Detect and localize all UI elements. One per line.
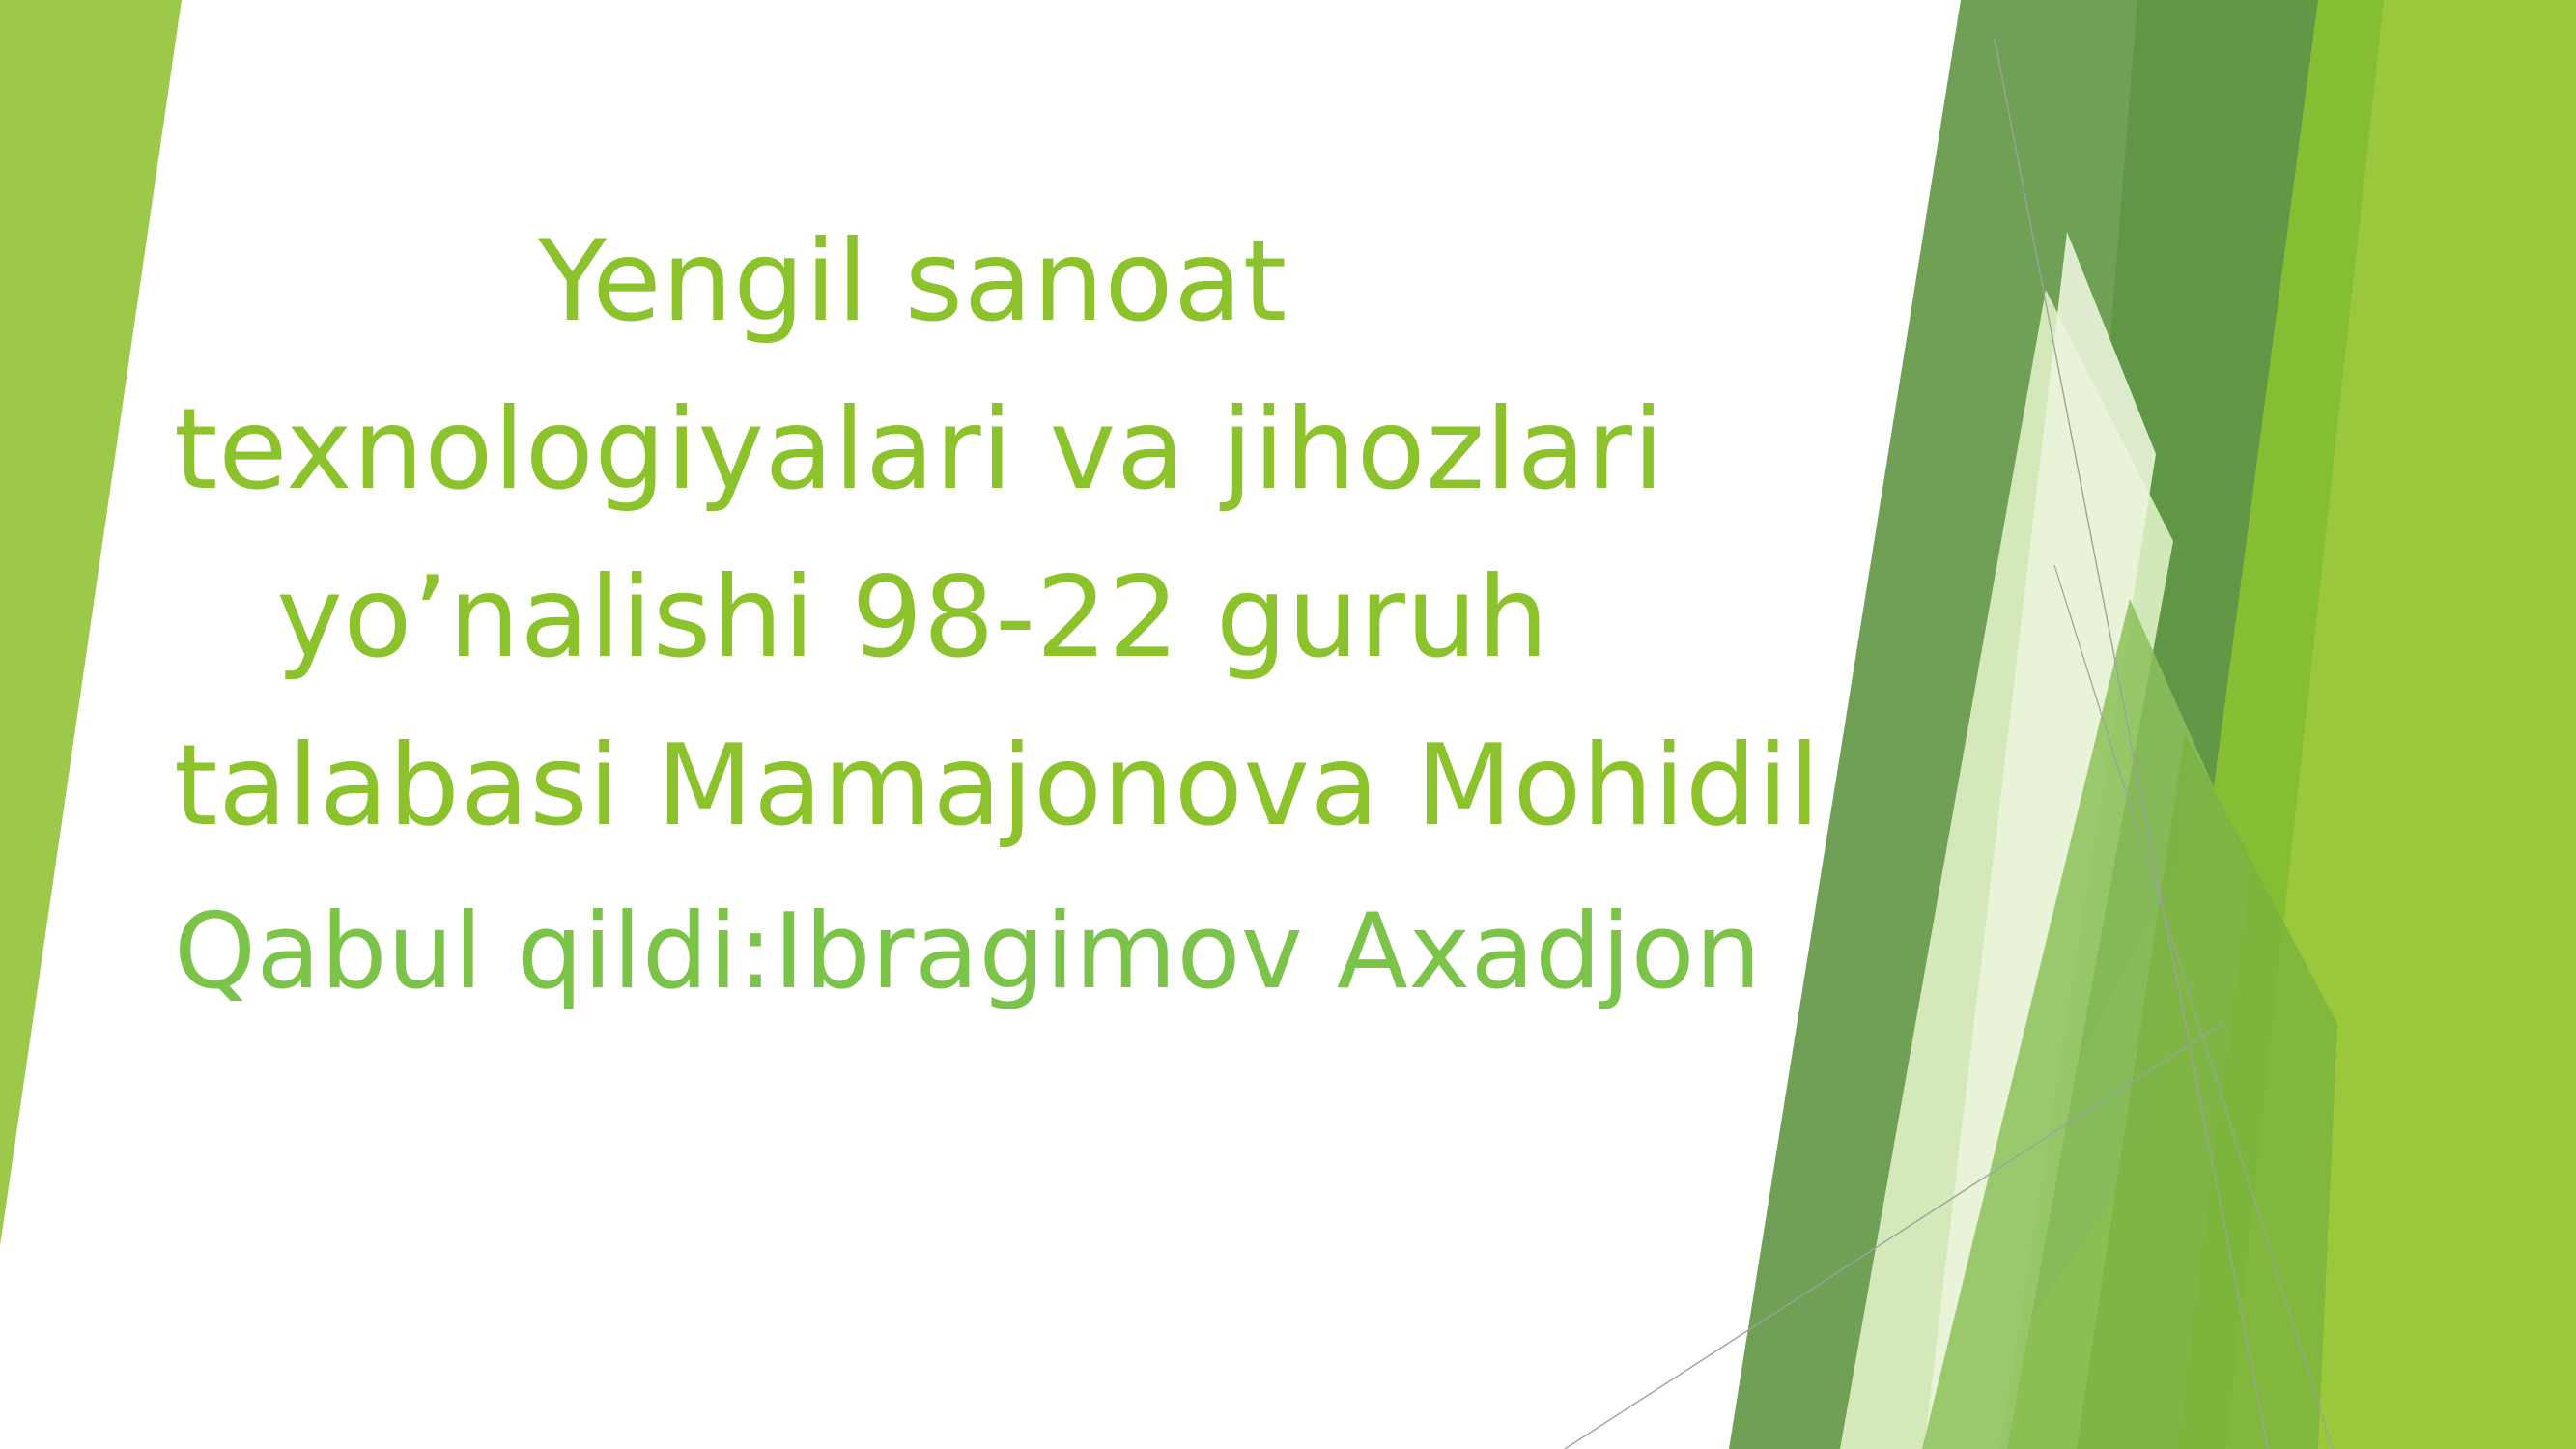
- title-line-1: Yengil sanoat: [174, 198, 1652, 366]
- title-line-4: talabasi Mamajonova Mohidil: [174, 702, 1652, 870]
- left-green-wedge: [0, 0, 182, 1246]
- right-bright-green-band: [1893, 0, 2384, 1449]
- right-soft-green-overlay: [1922, 599, 2250, 1449]
- title-line-2: texnologiyalari va jihozlari: [174, 366, 1652, 534]
- title-text-block: Yengil sanoat texnologiyalari va jihozla…: [174, 198, 1652, 1036]
- right-very-pale-green-sliver: [1924, 232, 2156, 1449]
- right-pale-green-sliver: [1840, 290, 2173, 1449]
- hairline-stroke-upper: [1995, 39, 2268, 1449]
- title-line-3: yo’nalishi 98-22 guruh: [174, 534, 1652, 702]
- subtitle-line-1: Qabul qildi:Ibragimov Axadjon: [174, 870, 1652, 1036]
- right-lower-green-facet: [2077, 734, 2337, 1449]
- hairline-stroke-diagonal: [1565, 1024, 2222, 1449]
- hairline-stroke-lower: [2054, 565, 2333, 1449]
- right-dark-green-band: [2048, 0, 2318, 1121]
- presentation-slide: Yengil sanoat texnologiyalari va jihozla…: [0, 0, 2576, 1449]
- right-vivid-green-edge: [2139, 0, 2576, 1449]
